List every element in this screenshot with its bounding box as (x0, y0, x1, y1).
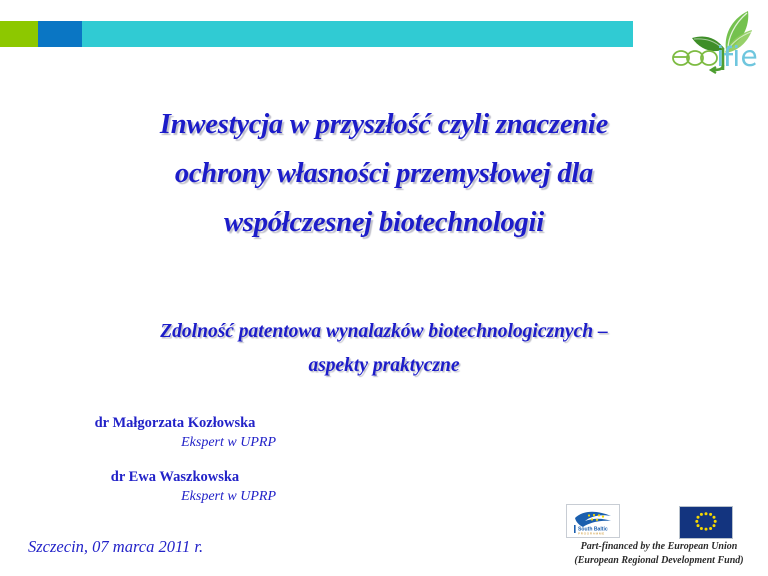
funding-note-line-1: Part-financed by the European Union (552, 540, 766, 554)
slide-title-line-3: współczesnej biotechnologii (34, 198, 734, 247)
header-bar-segment-cyan (82, 21, 633, 47)
author-name: dr Małgorzata Kozłowska (60, 414, 290, 433)
author-entry: dr Małgorzata Kozłowska Ekspert w UPRP (60, 414, 290, 452)
author-list: dr Małgorzata Kozłowska Ekspert w UPRP d… (60, 414, 290, 522)
european-union-flag (679, 506, 733, 539)
ecolife-logo (664, 8, 760, 74)
ecolife-wordmark-eco (673, 51, 717, 65)
funding-note-line-2: (European Regional Development Fund) (552, 554, 766, 568)
south-baltic-programme-logo: South Baltic PROGRAMME (566, 504, 620, 538)
header-bar-segment-green (0, 21, 38, 47)
author-role: Ekspert w UPRP (60, 433, 290, 452)
funding-note: Part-financed by the European Union (Eur… (552, 540, 766, 567)
slide-title: Inwestycja w przyszłość czyli znaczenie … (34, 100, 734, 247)
slide-subtitle-line-1: Zdolność patentowa wynalazków biotechnol… (24, 315, 744, 349)
slide-subtitle-line-2: aspekty praktyczne (24, 349, 744, 383)
place-and-date: Szczecin, 07 marca 2011 r. (28, 537, 203, 557)
svg-text:PROGRAMME: PROGRAMME (578, 532, 605, 536)
header-color-bar (0, 21, 633, 47)
sprout-leaf-icon (692, 11, 752, 53)
author-role: Ekspert w UPRP (60, 487, 290, 506)
author-name: dr Ewa Waszkowska (60, 468, 290, 487)
slide-subtitle: Zdolność patentowa wynalazków biotechnol… (24, 315, 744, 383)
author-entry: dr Ewa Waszkowska Ekspert w UPRP (60, 468, 290, 506)
header-bar-segment-blue (38, 21, 82, 47)
slide-title-line-2: ochrony własności przemysłowej dla (34, 149, 734, 198)
presentation-slide: Inwestycja w przyszłość czyli znaczenie … (0, 0, 768, 576)
slide-title-line-1: Inwestycja w przyszłość czyli znaczenie (34, 100, 734, 149)
